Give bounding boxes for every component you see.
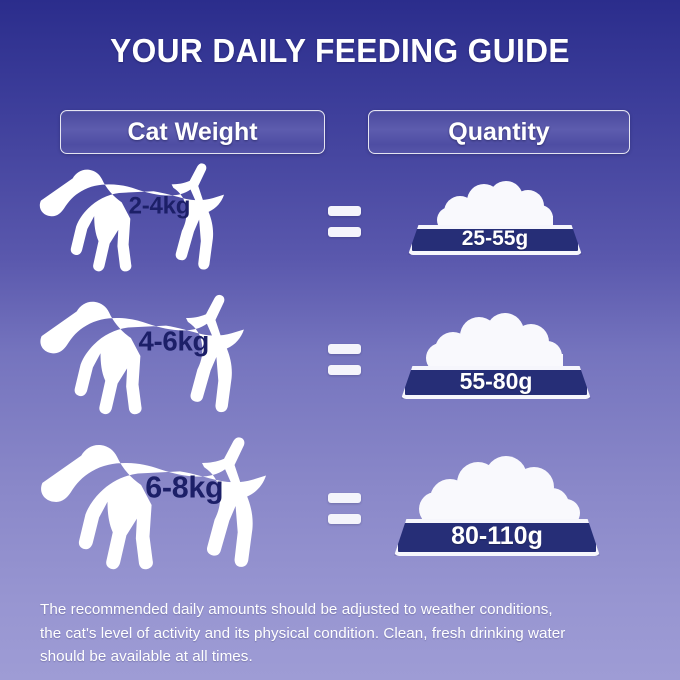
disclaimer-line-3: should be available at all times. (40, 645, 646, 669)
bowl-quantity-label: 80-110g (451, 522, 543, 551)
column-header-cat-weight: Cat Weight (60, 110, 325, 154)
equals-icon (328, 344, 361, 375)
feeding-row: 4-6kg 55-80g (0, 300, 680, 430)
cat-weight-label: 4-6kg (139, 327, 210, 358)
infographic-canvas: YOUR DAILY FEEDING GUIDE Cat Weight Quan… (0, 0, 680, 680)
equals-icon (328, 206, 361, 237)
feeding-row: 6-8kg 80-110g (0, 443, 680, 585)
kibble-mound-icon (408, 168, 582, 230)
kibble-mound-icon (394, 443, 600, 529)
cat-weight-label: 6-8kg (145, 471, 223, 506)
column-header-cat-weight-label: Cat Weight (127, 118, 257, 147)
column-header-quantity-label: Quantity (448, 118, 549, 147)
disclaimer-text: The recommended daily amounts should be … (40, 598, 646, 669)
cat-silhouette-icon: 2-4kg (34, 168, 292, 280)
equals-icon (328, 493, 361, 524)
kibble-mound-icon (401, 300, 591, 374)
bowl-quantity-badge: 80-110g (394, 519, 600, 556)
disclaimer-line-2: the cat's level of activity and its phys… (40, 622, 646, 646)
page-title: YOUR DAILY FEEDING GUIDE (14, 32, 667, 70)
bowl-quantity-badge: 25-55g (408, 225, 582, 255)
cat-silhouette-icon: 6-8kg (34, 443, 349, 580)
cat-silhouette-icon: 4-6kg (34, 300, 319, 424)
bowl-quantity-badge: 55-80g (401, 366, 591, 399)
disclaimer-line-1: The recommended daily amounts should be … (40, 598, 646, 622)
column-header-quantity: Quantity (368, 110, 630, 154)
bowl-quantity-label: 55-80g (460, 368, 533, 395)
cat-weight-label: 2-4kg (129, 192, 191, 220)
bowl-quantity-label: 25-55g (462, 227, 529, 251)
feeding-row: 2-4kg 25-55g (0, 168, 680, 288)
